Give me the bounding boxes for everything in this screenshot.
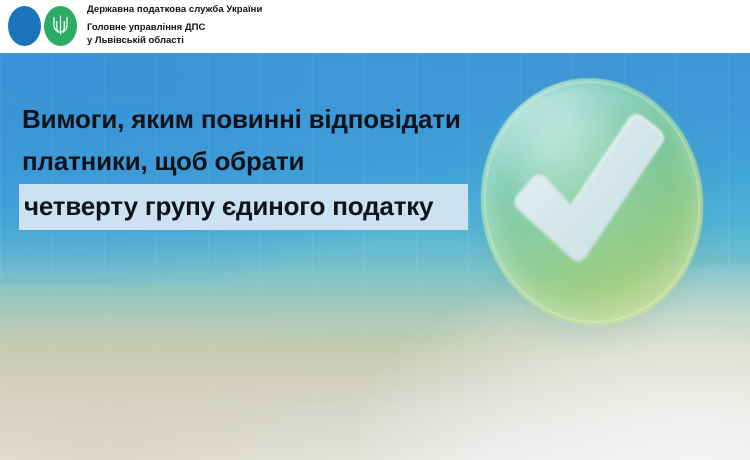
checkmark-icon — [467, 65, 718, 338]
department-name-line-1: Головне управління ДПС — [87, 22, 507, 35]
ukraine-tryzub-icon — [52, 14, 69, 36]
green-check-badge-icon — [467, 65, 718, 338]
organization-logo — [8, 6, 82, 46]
tax-service-info-banner: Державна податкова служба України Головн… — [0, 0, 750, 460]
headline-line-3: четверту групу єдиного податку — [24, 191, 433, 222]
organization-text-block: Державна податкова служба України Головн… — [87, 4, 507, 47]
department-name-line-2: у Львівській області — [87, 35, 507, 48]
banner-header: Державна податкова служба України Головн… — [0, 0, 750, 53]
organization-name: Державна податкова служба України — [87, 4, 507, 16]
headline-line-2: платники, щоб обрати — [22, 146, 304, 177]
blue-circle-icon — [8, 6, 41, 46]
headline-line-1: Вимоги, яким повинні відповідати — [22, 104, 461, 135]
